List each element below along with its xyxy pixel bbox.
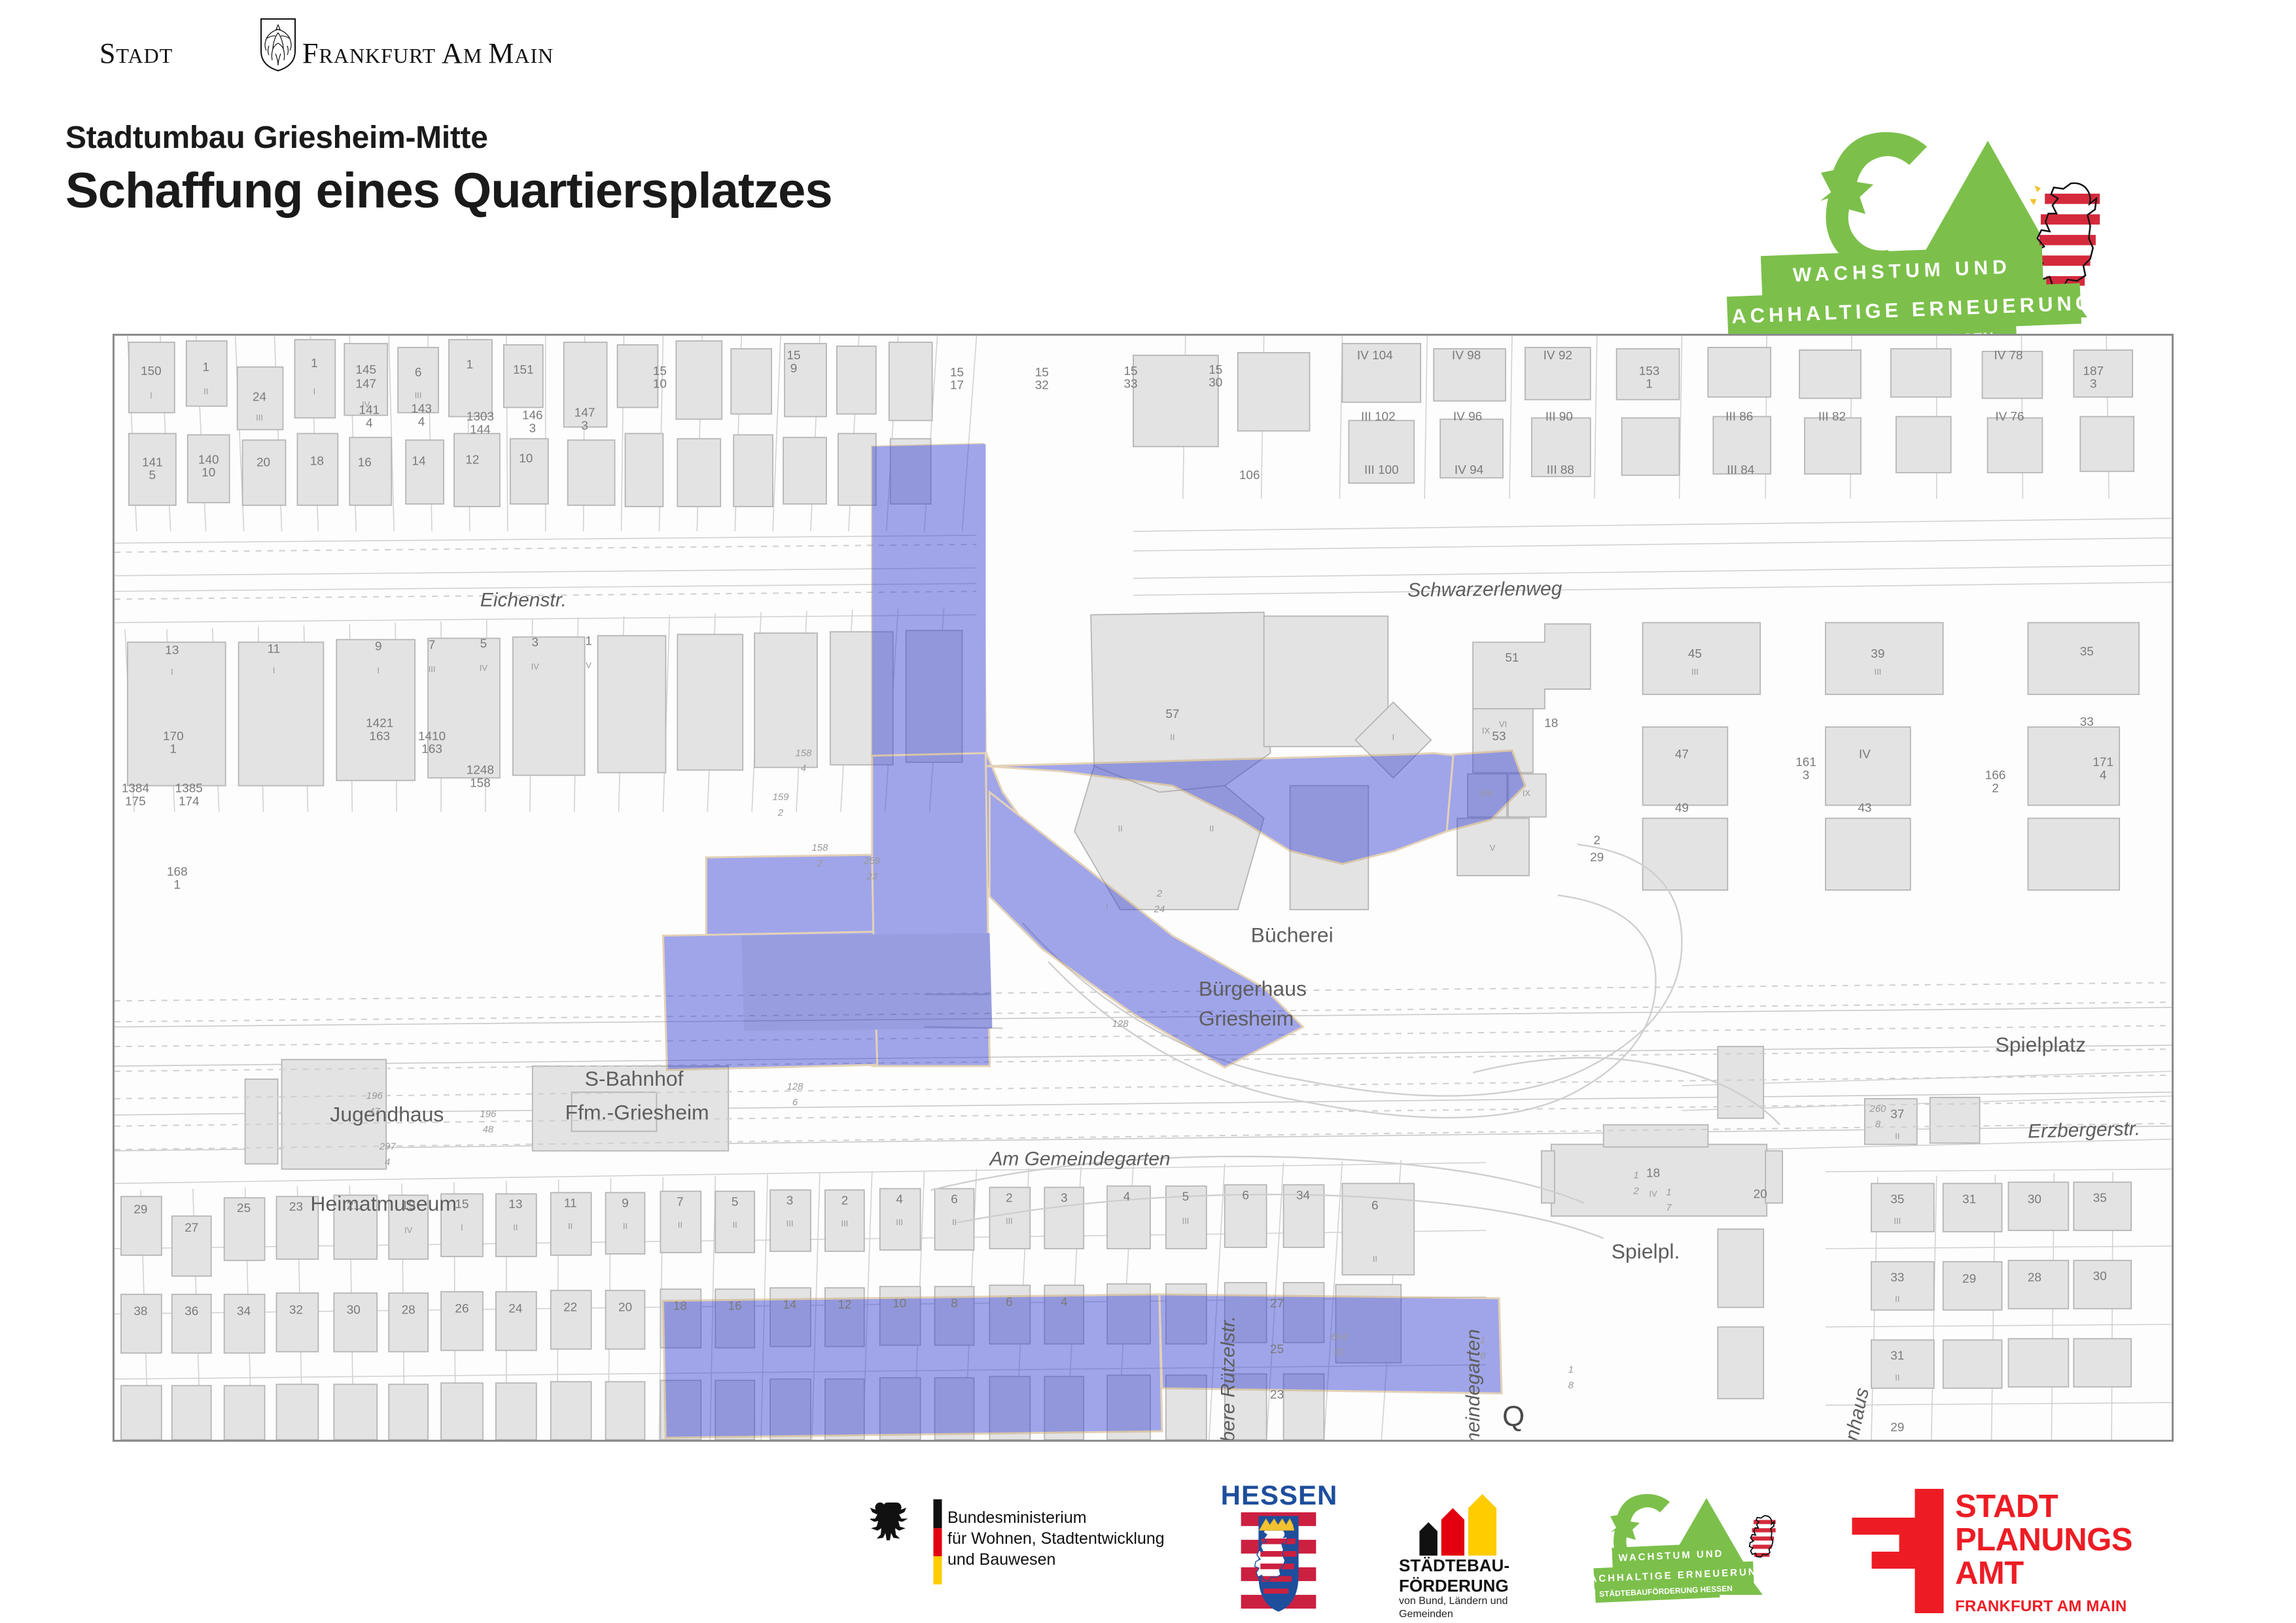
svg-text:47: 47 [1675,748,1689,762]
svg-text:IV: IV [531,662,540,671]
svg-text:15: 15 [653,365,667,378]
svg-text:11: 11 [268,642,281,656]
svg-text:33: 33 [2080,715,2094,729]
svg-text:I: I [273,666,275,675]
staedtebau-line-2: FÖRDERUNG [1399,1576,1510,1596]
svg-text:47: 47 [369,1106,380,1117]
svg-text:III 102: III 102 [1361,410,1396,424]
svg-text:150: 150 [141,365,162,378]
svg-text:29: 29 [1962,1272,1976,1286]
svg-text:III: III [1894,1216,1901,1226]
svg-text:I: I [1106,902,1108,912]
svg-text:5: 5 [732,1195,739,1209]
svg-text:II: II [1118,823,1122,833]
svg-text:II: II [203,387,208,397]
svg-text:6: 6 [1242,1188,1249,1202]
svg-text:32: 32 [289,1304,303,1317]
svg-text:141: 141 [142,455,163,469]
svg-text:1: 1 [1666,1186,1671,1198]
svg-text:39: 39 [1871,647,1884,661]
hessen-coat-of-arms-icon [1233,1510,1324,1622]
footer-logo-row: Bundesministerium für Wohnen, Stadtentwi… [0,1482,2296,1623]
svg-text:IV: IV [404,1225,413,1235]
svg-text:6: 6 [1371,1199,1379,1213]
svg-text:38: 38 [133,1305,147,1319]
svg-text:III 82: III 82 [1818,410,1846,424]
svg-text:25: 25 [237,1202,251,1215]
svg-text:15: 15 [1209,363,1222,377]
svg-text:IV 94: IV 94 [1455,463,1483,477]
svg-text:34: 34 [237,1305,251,1319]
svg-text:2: 2 [1006,1191,1013,1205]
svg-text:151: 151 [513,363,534,377]
svg-text:IV 96: IV 96 [1453,410,1482,424]
bmwsb-line-3: und Bauwesen [947,1549,1165,1570]
svg-text:15: 15 [950,366,964,380]
svg-text:10: 10 [202,466,215,480]
svg-text:IV 78: IV 78 [1994,349,2022,363]
svg-text:37: 37 [1890,1108,1904,1122]
svg-text:153: 153 [1639,365,1660,378]
svg-text:II: II [733,1220,737,1230]
svg-text:4: 4 [801,763,806,774]
svg-text:1385: 1385 [175,782,203,796]
svg-text:4: 4 [385,1157,390,1168]
staedtebau-line-1: STÄDTEBAU- [1399,1556,1510,1576]
cadastral-map[interactable]: Eichenstr. Schwarzerlenweg Erzbergerstr.… [113,334,2174,1442]
svg-text:1: 1 [585,634,592,648]
svg-text:II: II [568,1221,573,1231]
svg-text:2: 2 [777,807,784,818]
stadtplanungsamt-line-3: AMT [1955,1557,2132,1590]
svg-text:23: 23 [866,871,877,882]
bmwsb-text: Bundesministerium für Wohnen, Stadtentwi… [947,1507,1165,1570]
svg-text:29: 29 [133,1203,147,1217]
frankfurt-eagle-crest-icon [259,17,297,72]
svg-text:1303: 1303 [467,410,494,424]
svg-text:260: 260 [1869,1103,1886,1115]
svg-text:140: 140 [198,453,219,467]
svg-text:II: II [623,1221,627,1231]
svg-text:20: 20 [1754,1187,1767,1201]
svg-text:4: 4 [1123,1190,1131,1204]
svg-text:1: 1 [174,878,181,892]
svg-text:4: 4 [2100,769,2107,783]
poi-label-jugendhaus: Jugendhaus [330,1103,444,1126]
street-label-am-gemeindegarten-h: Am Gemeindegarten [988,1149,1170,1170]
svg-text:15: 15 [786,349,800,363]
city-logo-word-frankfurt-am-main: FRANKFURT AM MAIN [302,37,554,70]
svg-text:IV: IV [362,400,370,410]
svg-text:III: III [896,1217,903,1227]
svg-text:III 86: III 86 [1725,410,1753,424]
svg-text:6: 6 [951,1192,958,1206]
svg-text:28: 28 [2028,1271,2041,1285]
svg-text:5: 5 [1182,1190,1190,1204]
svg-text:14: 14 [412,454,426,468]
svg-text:187: 187 [2083,365,2104,378]
svg-text:128: 128 [787,1081,804,1092]
svg-text:III 100: III 100 [1364,463,1399,477]
svg-text:12: 12 [838,1298,851,1312]
svg-text:I: I [377,666,380,675]
svg-text:IV: IV [1859,748,1871,762]
svg-text:11: 11 [564,1196,577,1210]
svg-text:1: 1 [1633,1169,1638,1181]
svg-text:14: 14 [783,1298,796,1312]
three-houses-icon [1399,1491,1530,1556]
bundesadler-icon [870,1499,923,1584]
svg-text:19: 19 [402,1199,415,1213]
svg-text:2: 2 [1156,888,1163,899]
svg-text:35: 35 [2080,645,2094,658]
svg-text:III 88: III 88 [1547,463,1574,477]
svg-text:166: 166 [1985,769,2006,783]
svg-text:175: 175 [125,794,146,808]
svg-text:IX: IX [1523,789,1531,798]
svg-text:IV: IV [1649,1188,1657,1198]
svg-text:VI: VI [1499,719,1507,729]
svg-text:IX: IX [1482,726,1491,736]
poi-label-heimatmuseum: Heimatmuseum [310,1192,457,1215]
svg-text:106: 106 [1239,469,1260,482]
svg-text:III 84: III 84 [1727,463,1754,477]
svg-text:30: 30 [1209,376,1222,390]
svg-text:18: 18 [310,454,324,468]
svg-text:16: 16 [728,1300,742,1313]
svg-text:45: 45 [1688,647,1702,661]
svg-text:2: 2 [1633,1185,1639,1196]
svg-text:4: 4 [896,1192,903,1206]
svg-text:26: 26 [455,1302,468,1316]
poi-label-spielplatz: Spielplatz [1996,1033,2086,1056]
svg-text:3: 3 [2090,378,2097,391]
page-subtitle: Stadtumbau Griesheim-Mitte [65,120,488,156]
svg-text:II: II [1895,1294,1899,1304]
city-logo-word-stadt: STADT [99,37,173,70]
svg-text:II: II [1895,1372,1899,1382]
svg-text:1384: 1384 [122,782,149,796]
svg-text:3: 3 [531,635,539,649]
svg-text:IV 98: IV 98 [1452,349,1481,363]
poi-label-spielpl: Spielpl. [1612,1240,1680,1263]
svg-text:IV 92: IV 92 [1544,349,1572,363]
svg-text:35: 35 [1890,1192,1904,1206]
svg-text:4: 4 [366,417,373,431]
svg-text:II: II [1170,732,1174,742]
city-logo: STADT FRANKFURT AM MAIN [99,31,518,72]
svg-text:3: 3 [581,419,588,433]
svg-text:34: 34 [1296,1188,1310,1202]
stadtplanungsamt-line-1: STADT [1955,1490,2132,1524]
svg-text:8: 8 [1480,1350,1486,1361]
svg-text:144: 144 [470,423,491,437]
svg-text:V: V [1490,843,1496,853]
svg-text:V: V [586,660,592,670]
svg-text:III: III [1182,1216,1189,1226]
poi-label-ffm-griesheim: Ffm.-Griesheim [565,1101,709,1124]
svg-text:43: 43 [1858,801,1871,815]
svg-text:24: 24 [508,1302,522,1316]
svg-text:48: 48 [483,1124,494,1135]
bmwsb-line-1: Bundesministerium [947,1507,1165,1528]
poi-label-griesheim: Griesheim [1199,1007,1294,1030]
svg-text:II: II [1373,1254,1377,1264]
svg-text:3: 3 [1803,769,1810,783]
svg-text:III 90: III 90 [1545,410,1573,424]
svg-text:1: 1 [1480,1335,1485,1346]
svg-text:VIII: VIII [1479,789,1492,798]
svg-text:1: 1 [1568,1364,1574,1375]
poi-label-buergerhaus: Bürgerhaus [1199,976,1307,1000]
svg-text:147: 147 [355,378,376,391]
svg-text:161: 161 [1795,756,1816,770]
street-label-obere-ruetzelstr: Obere Rützelstr. [1218,1315,1239,1440]
svg-text:1: 1 [467,358,474,372]
svg-text:II: II [1895,1132,1899,1141]
svg-text:18: 18 [1544,717,1558,730]
svg-text:3: 3 [786,1194,794,1207]
hessen-wordmark: HESSEN [1217,1480,1341,1511]
stadtplanungsamt-wordmark: STADT PLANUNGS AMT [1955,1490,2132,1590]
svg-text:174: 174 [179,794,200,808]
svg-text:3: 3 [529,421,537,435]
svg-text:2: 2 [1992,782,1999,796]
svg-text:22: 22 [563,1301,577,1315]
svg-text:II: II [678,1220,682,1230]
svg-text:145: 145 [355,363,376,377]
svg-text:1421: 1421 [366,717,393,730]
svg-text:III: III [415,391,422,401]
svg-text:1410: 1410 [418,730,446,743]
svg-text:51: 51 [1505,651,1519,665]
svg-text:29: 29 [1890,1421,1904,1435]
svg-text:III: III [429,664,436,674]
svg-text:1: 1 [202,361,209,374]
svg-text:24: 24 [253,391,266,404]
wachstum-footer-logo: WACHSTUM UND NACHHALTIGE ERNEUERUNG STÄD… [1590,1482,1806,1623]
svg-text:7: 7 [429,638,436,652]
svg-text:159: 159 [773,791,789,802]
svg-text:33: 33 [1890,1271,1904,1285]
svg-text:297: 297 [379,1141,397,1152]
svg-text:IV: IV [480,663,488,673]
svg-text:147: 147 [574,406,595,420]
svg-text:IV 76: IV 76 [1995,410,2024,424]
svg-text:8: 8 [1568,1380,1574,1391]
german-flag-bar-icon [933,1499,942,1584]
svg-text:18: 18 [673,1300,687,1313]
svg-text:I: I [461,1222,463,1232]
svg-text:30: 30 [2093,1270,2107,1283]
svg-text:143: 143 [411,402,432,416]
svg-text:27: 27 [1270,1297,1284,1311]
svg-text:30: 30 [2028,1192,2041,1206]
map-drawing: Eichenstr. Schwarzerlenweg Erzbergerstr.… [115,336,2172,1440]
svg-text:10: 10 [892,1297,906,1311]
svg-text:15: 15 [455,1198,468,1211]
svg-text:37: 37 [1333,1347,1345,1358]
svg-text:53: 53 [1492,730,1506,743]
stadtplanungsamt-line-2: PLANUNGS [1955,1524,2132,1557]
svg-text:3: 3 [1061,1191,1068,1205]
svg-text:128: 128 [1112,1018,1129,1029]
svg-text:259: 259 [863,855,880,866]
poi-label-buecherei: Bücherei [1251,923,1333,947]
svg-text:49: 49 [1675,801,1689,815]
stadtplanungsamt-logo: STADT PLANUNGS AMT FRANKFURT AM MAIN [1839,1482,2179,1623]
page-title: Schaffung eines Quartiersplatzes [65,162,832,219]
svg-text:2: 2 [817,858,823,869]
svg-text:20: 20 [618,1301,632,1315]
poi-label-s-bahnhof: S-Bahnhof [585,1067,684,1090]
svg-text:7: 7 [1666,1202,1672,1213]
svg-text:III: III [786,1219,794,1228]
svg-text:36: 36 [185,1305,198,1319]
svg-text:1: 1 [170,743,177,757]
staedtebau-subtitle: von Bund, Ländern und Gemeinden [1399,1595,1508,1621]
svg-text:15: 15 [1035,366,1049,380]
svg-text:24: 24 [1154,904,1165,915]
svg-text:2: 2 [1593,834,1600,847]
svg-text:II: II [1209,823,1214,833]
svg-text:29: 29 [1590,851,1604,865]
svg-text:32: 32 [1035,379,1049,393]
svg-text:23: 23 [289,1200,303,1214]
stadtplanungsamt-subline: FRANKFURT AM MAIN [1955,1597,2127,1616]
svg-text:I: I [1392,732,1394,742]
svg-text:III: III [1874,667,1881,677]
svg-text:7: 7 [677,1195,684,1209]
svg-text:5: 5 [480,637,487,651]
svg-text:21: 21 [347,1199,361,1213]
svg-text:6: 6 [792,1097,798,1108]
staedtebau-sub-2: Gemeinden [1399,1608,1508,1621]
svg-text:I: I [171,667,173,677]
svg-text:16: 16 [358,455,372,469]
svg-text:30: 30 [347,1304,361,1317]
svg-text:35: 35 [2093,1191,2107,1205]
svg-text:II: II [513,1222,518,1232]
svg-text:168: 168 [167,865,188,879]
bmwsb-line-2: für Wohnen, Stadtentwicklung [947,1528,1165,1549]
bmwsb-logo: Bundesministerium für Wohnen, Stadtentwi… [870,1482,1210,1623]
svg-text:33: 33 [1123,378,1137,391]
svg-text:146: 146 [522,409,543,423]
svg-text:9: 9 [790,362,798,376]
svg-text:8: 8 [1875,1119,1881,1130]
svg-text:8: 8 [951,1297,958,1311]
svg-text:II: II [952,1217,957,1227]
street-label-schwarzerlenweg: Schwarzerlenweg [1407,578,1563,601]
svg-text:IV 104: IV 104 [1357,349,1393,363]
street-label-eichenstr: Eichenstr. [480,590,567,611]
hessen-logo: HESSEN [1217,1482,1341,1623]
svg-text:27: 27 [185,1221,198,1235]
svg-text:15: 15 [1123,365,1137,378]
svg-text:31: 31 [1890,1349,1904,1363]
svg-text:20: 20 [256,455,270,469]
hessen-lion-icon [1750,1516,1776,1557]
svg-text:13: 13 [165,643,179,657]
svg-text:4: 4 [1061,1296,1068,1310]
svg-text:III: III [1691,667,1699,677]
svg-text:158: 158 [470,777,491,791]
svg-text:57: 57 [1165,707,1179,721]
svg-text:158: 158 [796,748,813,759]
svg-text:I: I [313,387,316,397]
svg-text:III: III [1006,1216,1013,1226]
svg-text:158: 158 [811,842,828,853]
svg-text:163: 163 [369,730,390,743]
svg-text:9: 9 [375,639,382,653]
map-marker-glyph: Q [1502,1400,1525,1433]
svg-text:1248: 1248 [467,764,494,777]
svg-text:6: 6 [415,366,422,380]
svg-text:25: 25 [1270,1342,1284,1356]
svg-text:4: 4 [418,416,425,429]
staedtebau-sub-1: von Bund, Ländern und [1399,1595,1508,1608]
svg-text:664: 664 [1331,1332,1347,1343]
svg-text:6: 6 [1006,1296,1013,1310]
svg-text:1: 1 [1646,378,1653,391]
staedtebau-title: STÄDTEBAU- FÖRDERUNG [1399,1556,1510,1596]
svg-text:171: 171 [2093,756,2113,770]
svg-text:III: III [256,413,263,423]
svg-text:9: 9 [622,1196,629,1210]
svg-text:12: 12 [465,453,479,467]
svg-text:2: 2 [841,1194,849,1207]
street-label-erzbergerstr: Erzbergerstr. [2028,1118,2141,1142]
svg-text:III: III [841,1219,848,1228]
svg-text:196: 196 [480,1109,497,1120]
svg-text:23: 23 [1270,1388,1284,1402]
svg-text:28: 28 [402,1304,415,1317]
svg-text:170: 170 [163,730,184,743]
svg-text:5: 5 [149,469,156,482]
svg-text:196: 196 [366,1090,383,1101]
svg-text:13: 13 [508,1198,522,1211]
svg-text:10: 10 [653,378,667,391]
staedtebaufoerderung-logo: STÄDTEBAU- FÖRDERUNG von Bund, Ländern u… [1387,1482,1564,1623]
svg-text:I: I [150,391,152,401]
svg-text:17: 17 [950,379,964,393]
svg-text:163: 163 [421,743,442,757]
svg-text:31: 31 [1962,1192,1976,1206]
svg-text:1: 1 [311,357,318,370]
svg-text:18: 18 [1646,1166,1660,1180]
svg-text:10: 10 [519,452,533,465]
stadtplanungsamt-mark-icon [1850,1489,1945,1613]
